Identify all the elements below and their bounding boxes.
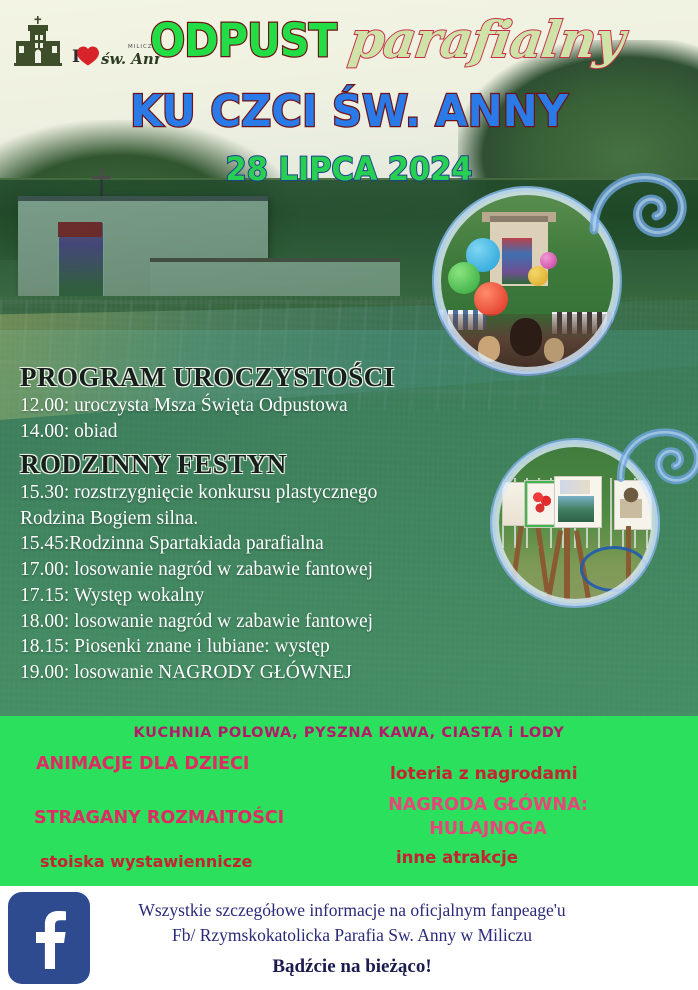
attraction-inne: inne atrakcje <box>396 848 518 867</box>
attraction-animacje: ANIMACJE DLA DZIECI <box>36 754 249 774</box>
program-item: 19.00: losowanie NAGRODY GŁÓWNEJ <box>20 660 494 686</box>
attractions-band: KUCHNIA POLOWA, PYSZNA KAWA, CIASTA i LO… <box>0 716 698 886</box>
title-line-1: ODPUST parafialny <box>150 14 620 72</box>
program-heading-festyn: RODZINNY FESTYN <box>20 449 494 479</box>
program-item: 17.15: Występ wokalny <box>20 583 494 609</box>
program-item: 18.15: Piosenki znane i lubiane: występ <box>20 634 494 660</box>
brush-swirl-decoration-1 <box>584 168 694 278</box>
program-item: 15.45:Rodzinna Spartakiada parafialna <box>20 531 494 557</box>
program-item: 17.00: losowanie nagród w zabawie fantow… <box>20 557 494 583</box>
attraction-nagroda-glowna: NAGRODA GŁÓWNA: HULAJNOGA <box>378 794 598 841</box>
program-item: Rodzina Bogiem silna. <box>20 506 494 532</box>
program-heading-ceremony: PROGRAM UROCZYSTOŚCI <box>20 362 494 392</box>
attraction-loteria: loteria z nagrodami <box>390 764 578 784</box>
program-item: 14.00: obiad <box>20 419 494 445</box>
program-item: 15.30: rozstrzygnięcie konkursu plastycz… <box>20 480 494 506</box>
footer: Wszystkie szczegółowe informacje na ofic… <box>0 886 698 990</box>
footer-line-1: Wszystkie szczegółowe informacje na ofic… <box>96 898 608 923</box>
footer-line-3: Bądźcie na bieżąco! <box>96 953 608 981</box>
title-word-odpust: ODPUST <box>150 14 336 67</box>
attraction-stoiska: stoiska wystawiennicze <box>40 852 252 871</box>
attraction-stragany: STRAGANY ROZMAITOŚCI <box>34 808 284 828</box>
poster-date: 28 LIPCA 2024 <box>17 150 680 188</box>
title-word-parafialny: parafialny <box>346 10 628 69</box>
attractions-food-banner: KUCHNIA POLOWA, PYSZNA KAWA, CIASTA i LO… <box>0 716 698 741</box>
footer-line-2: Fb/ Rzymskokatolicka Parafia Sw. Anny w … <box>96 923 608 948</box>
poster: I św. Anna MILICZ ODPUST parafialny KU C… <box>0 0 698 990</box>
program-item: 18.00: losowanie nagród w zabawie fantow… <box>20 609 494 635</box>
footer-text: Wszystkie szczegółowe informacje na ofic… <box>96 898 608 980</box>
brush-swirl-decoration-2 <box>612 424 698 520</box>
program-section: PROGRAM UROCZYSTOŚCI 12.00: uroczysta Ms… <box>14 362 494 686</box>
poster-subtitle: KU CZCI ŚW. ANNY <box>17 86 680 137</box>
facebook-icon[interactable] <box>8 892 90 984</box>
program-item: 12.00: uroczysta Msza Święta Odpustowa <box>20 393 494 419</box>
